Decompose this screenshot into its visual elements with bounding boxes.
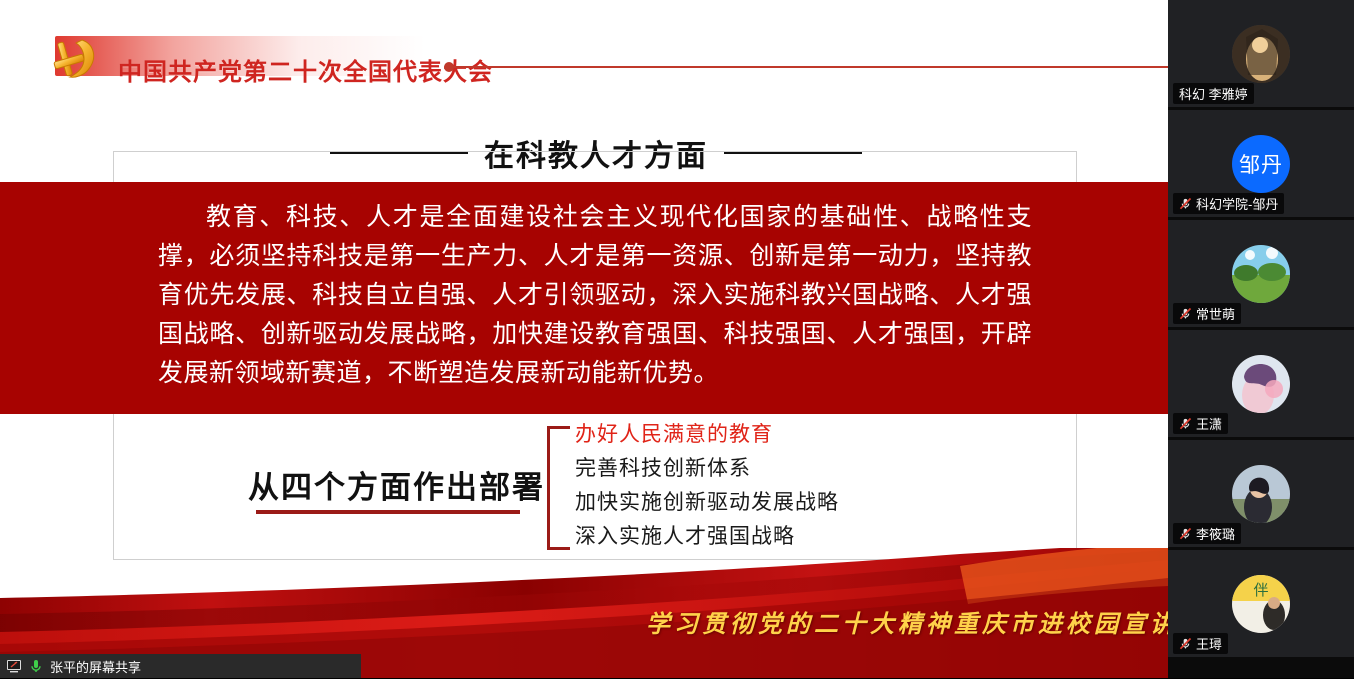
participant-name-bar: 李筱璐 bbox=[1173, 523, 1241, 544]
svg-text:伴: 伴 bbox=[1253, 581, 1268, 599]
screen-share-status-bar[interactable]: 张平的屏幕共享 bbox=[0, 654, 361, 678]
red-quote-text: 教育、科技、人才是全面建设社会主义现代化国家的基础性、战略性支撑，必须坚持科技是… bbox=[158, 198, 1032, 393]
list-item: 办好人民满意的教育 bbox=[575, 418, 839, 452]
participant-tile[interactable]: 李筱璐 bbox=[1168, 440, 1354, 547]
avatar bbox=[1232, 465, 1290, 523]
participant-tile[interactable]: 常世萌 bbox=[1168, 220, 1354, 327]
list-bracket bbox=[547, 426, 570, 550]
avatar bbox=[1232, 355, 1290, 413]
mic-muted-icon bbox=[1179, 307, 1192, 320]
participant-tile[interactable]: 科幻 李雅婷 bbox=[1168, 0, 1354, 107]
list-item: 完善科技创新体系 bbox=[575, 452, 839, 486]
avatar bbox=[1232, 25, 1290, 83]
participant-name-bar: 科幻学院-邹丹 bbox=[1173, 193, 1284, 214]
deployment-heading-underline bbox=[256, 510, 520, 514]
deployment-section: 从四个方面作出部署 办好人民满意的教育 完善科技创新体系 加快实施创新驱动发展战… bbox=[113, 414, 1075, 558]
participant-name-bar: 科幻 李雅婷 bbox=[1173, 83, 1254, 104]
participant-name-bar: 常世萌 bbox=[1173, 303, 1241, 324]
mic-muted-icon bbox=[1179, 417, 1192, 430]
participant-name-bar: 王潇 bbox=[1173, 413, 1228, 434]
hammer-sickle-emblem-icon bbox=[48, 34, 110, 84]
avatar-initials: 邹丹 bbox=[1232, 135, 1290, 193]
participant-name: 常世萌 bbox=[1196, 304, 1235, 323]
screen-share-status-text: 张平的屏幕共享 bbox=[50, 657, 141, 676]
mic-muted-icon bbox=[1179, 637, 1192, 650]
avatar: 伴 bbox=[1232, 575, 1290, 633]
participant-name: 王潇 bbox=[1196, 414, 1222, 433]
mic-active-icon[interactable] bbox=[28, 658, 44, 674]
participant-name: 李筱璐 bbox=[1196, 524, 1235, 543]
mic-muted-icon bbox=[1179, 527, 1192, 540]
header-rule bbox=[452, 66, 1168, 68]
ribbon-slogan: 学习贯彻党的二十大精神重庆市进校园宣讲队 bbox=[646, 604, 1168, 639]
deployment-list: 办好人民满意的教育 完善科技创新体系 加快实施创新驱动发展战略 深入实施人才强国… bbox=[575, 418, 839, 554]
participant-name: 科幻学院-邹丹 bbox=[1196, 194, 1278, 213]
participant-rail[interactable]: 科幻 李雅婷 邹丹 科幻学院-邹丹 常世萌 bbox=[1168, 0, 1354, 678]
screen-share-icon[interactable] bbox=[6, 658, 22, 674]
meeting-screen-share-view: 中国共产党第二十次全国代表大会 在科教人才方面 教育、科技、人才是全面建设社会主… bbox=[0, 0, 1354, 678]
shared-slide[interactable]: 中国共产党第二十次全国代表大会 在科教人才方面 教育、科技、人才是全面建设社会主… bbox=[0, 0, 1168, 678]
participant-tile[interactable]: 王潇 bbox=[1168, 330, 1354, 437]
list-item: 加快实施创新驱动发展战略 bbox=[575, 486, 839, 520]
participant-tile[interactable]: 伴 王璕 bbox=[1168, 550, 1354, 657]
avatar bbox=[1232, 245, 1290, 303]
participant-name: 科幻 李雅婷 bbox=[1179, 84, 1248, 103]
participant-name: 王璕 bbox=[1196, 634, 1222, 653]
slide-header-title: 中国共产党第二十次全国代表大会 bbox=[118, 52, 493, 87]
mic-muted-icon bbox=[1179, 197, 1192, 210]
participant-name-bar: 王璕 bbox=[1173, 633, 1228, 654]
participant-tile[interactable]: 邹丹 科幻学院-邹丹 bbox=[1168, 110, 1354, 217]
deployment-heading: 从四个方面作出部署 bbox=[248, 462, 545, 507]
